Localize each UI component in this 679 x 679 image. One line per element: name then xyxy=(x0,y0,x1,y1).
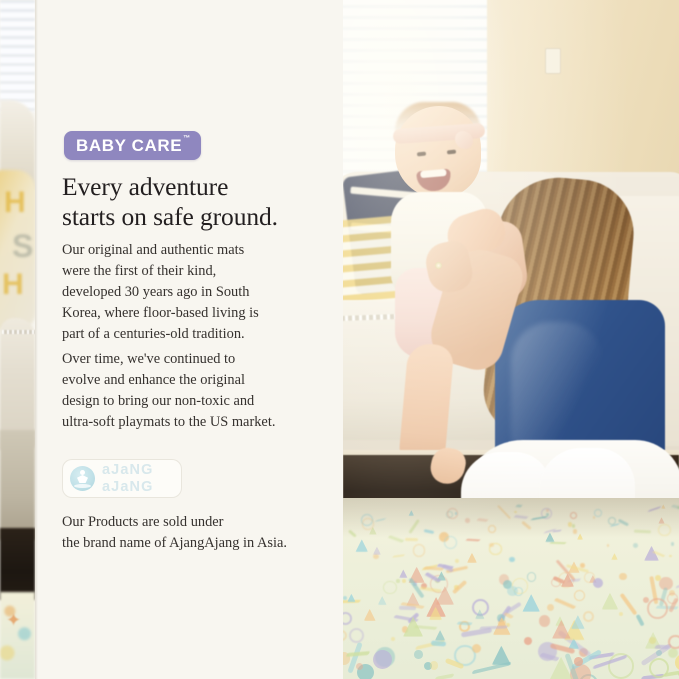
playmat-edge-blur xyxy=(0,592,35,679)
footer-line-1: Our Products are sold under xyxy=(62,512,324,533)
playmat-shape xyxy=(399,606,416,611)
playmat-shape xyxy=(408,510,414,516)
playmat-shape xyxy=(619,573,626,580)
playmat-shape xyxy=(514,515,529,519)
playmat-shape xyxy=(602,593,619,610)
playmat-shape xyxy=(375,518,385,522)
playmat-shape xyxy=(373,547,381,555)
playmat-shape xyxy=(573,529,577,533)
paragraph-evolution: Over time, we've continued to evolve and… xyxy=(62,349,324,433)
wood-floor-blur xyxy=(0,528,35,600)
figure-body-icon xyxy=(77,475,88,483)
para2-line-4: ultra-soft playmats to the US market. xyxy=(62,412,324,433)
playmat-shape xyxy=(435,630,446,641)
playmat-shape xyxy=(618,519,629,526)
para2-line-1: Over time, we've continued to xyxy=(62,349,324,370)
headline: Every adventure starts on safe ground. xyxy=(62,172,330,232)
playmat-shape xyxy=(658,524,671,537)
headline-line-2: starts on safe ground. xyxy=(62,202,330,232)
playmat-shape xyxy=(661,504,666,509)
pillow-letter-3: H xyxy=(2,268,24,302)
playmat-shape xyxy=(505,602,521,615)
playmat-shape xyxy=(364,609,376,621)
baby-headband-bow xyxy=(455,131,473,149)
trademark-symbol: ™ xyxy=(183,135,190,142)
playmat-shape xyxy=(378,596,387,605)
playmat-shape xyxy=(391,637,395,641)
playmat-shape xyxy=(402,579,406,583)
baby-figure-icon xyxy=(70,466,95,491)
para1-line-3: developed 30 years ago in South xyxy=(62,282,324,303)
ajang-ajang-logo-badge: aJaNG aJaNG xyxy=(63,460,181,497)
playmat-shape xyxy=(570,512,577,519)
playmat-shape xyxy=(497,505,511,520)
left-photo-strip: H S H ✦ xyxy=(0,0,35,679)
playmat-shape xyxy=(611,553,618,560)
playmat-shape xyxy=(424,529,434,534)
para1-line-1: Our original and authentic mats xyxy=(62,240,324,261)
playmat-shape xyxy=(408,519,419,534)
playmat-shape xyxy=(667,593,678,604)
cushion-stitch-line xyxy=(2,330,35,334)
playmat-shape xyxy=(455,559,459,563)
playmat-shape xyxy=(633,543,638,548)
baby-care-logo-text: BABY CARE xyxy=(76,137,182,154)
playmat-shape xyxy=(524,637,532,645)
playmat-shape xyxy=(572,524,575,527)
playmat-shape xyxy=(349,628,364,643)
playmat-shape xyxy=(414,650,423,659)
playmat-shape xyxy=(514,511,517,514)
playmat-shape xyxy=(668,635,679,650)
pillow-letter-2: S xyxy=(12,228,33,265)
para1-line-4: Korea, where floor-based living is xyxy=(62,303,324,324)
playmat-shape xyxy=(388,535,404,542)
playmat-star-icon: ✦ xyxy=(6,610,21,631)
headline-line-1: Every adventure xyxy=(62,172,330,202)
playmat-shape xyxy=(405,538,418,541)
playmat-shape xyxy=(547,604,554,611)
playmat-shape xyxy=(472,644,481,653)
playmat-shape xyxy=(413,544,425,556)
playmat-shape xyxy=(466,538,480,541)
playmat-shape xyxy=(522,594,540,612)
playmat-shape xyxy=(471,661,510,674)
playmat-shape xyxy=(583,611,594,622)
playmat-shape xyxy=(669,555,672,558)
figure-base-icon xyxy=(74,484,91,488)
playmat-shape xyxy=(539,615,551,627)
playmat-shape xyxy=(647,598,668,619)
playmat-shape xyxy=(399,569,408,578)
playmat-shape xyxy=(671,542,674,545)
playmat-shape xyxy=(392,554,404,558)
wedding-ring xyxy=(435,262,442,269)
playmat-shape xyxy=(577,533,583,539)
playmat-shape xyxy=(356,663,363,670)
ajang-wordmark-line-2: aJaNG xyxy=(102,480,153,495)
pillow-letter-1: H xyxy=(4,186,26,220)
playmat-shape xyxy=(362,518,373,529)
playmat-shape xyxy=(347,594,356,603)
playmat-shape xyxy=(488,525,496,533)
playmat-shape xyxy=(634,530,651,534)
playmat-shape xyxy=(396,579,399,582)
para2-line-3: design to bring our non-toxic and xyxy=(62,391,324,412)
mother-and-baby-photo xyxy=(343,0,679,679)
playmat-shape xyxy=(593,516,596,519)
playmat-shape xyxy=(554,597,576,609)
product-brand-panel: H S H ✦ BABY CARE ™ Every adventure star… xyxy=(0,0,679,679)
figure-head-icon xyxy=(80,470,85,475)
playmat-shape xyxy=(431,641,447,647)
playmat-shape xyxy=(574,590,585,601)
playmat-shape xyxy=(465,518,470,523)
playmat-shape xyxy=(671,505,679,510)
playmat-shape xyxy=(527,572,537,582)
couch-skirt-blur xyxy=(0,430,35,540)
playmat-shape xyxy=(373,650,393,670)
paragraph-origin-story: Our original and authentic mats were the… xyxy=(62,240,324,345)
footer-note: Our Products are sold under the brand na… xyxy=(62,512,324,554)
playmat-shape xyxy=(467,553,477,563)
baby-care-logo-badge: BABY CARE ™ xyxy=(64,131,201,160)
playmat-shape xyxy=(675,654,679,671)
playmat-shape xyxy=(648,506,661,512)
playmat-shape xyxy=(509,557,514,562)
playmat-shape xyxy=(635,614,644,626)
wall-outlet xyxy=(545,48,561,74)
playmat-shape xyxy=(355,539,368,552)
playmat-shape xyxy=(430,661,438,669)
playmat-shape xyxy=(545,532,555,542)
playmat-shape xyxy=(349,530,357,538)
footer-line-2: the brand name of AjangAjang in Asia. xyxy=(62,533,324,554)
playmat-shape xyxy=(435,673,455,679)
playmat-shape xyxy=(658,517,664,523)
playmat-shape xyxy=(607,544,609,546)
window-blinds-blur xyxy=(0,0,35,112)
para2-line-2: evolve and enhance the original xyxy=(62,370,324,391)
playmat-shape xyxy=(383,581,397,595)
playmat-shape xyxy=(477,518,488,521)
playmat-shape xyxy=(655,575,661,581)
playmat-shape xyxy=(343,612,352,624)
playmat-shape xyxy=(343,630,347,641)
playmat-shape xyxy=(552,530,561,533)
para1-line-2: were the first of their kind, xyxy=(62,261,324,282)
playmat-shape xyxy=(643,597,649,603)
ajang-ajang-wordmark: aJaNG aJaNG xyxy=(102,463,153,494)
playmat-shape xyxy=(516,504,523,507)
playmat-shape xyxy=(444,536,457,549)
para1-line-5: part of a centuries-old tradition. xyxy=(62,324,324,345)
playmat-shape xyxy=(656,650,662,656)
playmat-shape xyxy=(574,657,583,666)
playmat-shape xyxy=(549,542,566,545)
playmat-shape xyxy=(552,620,571,639)
playmat xyxy=(343,498,679,679)
playmat-shape xyxy=(619,612,623,616)
playmat-shape xyxy=(521,521,531,530)
playmat-shape xyxy=(593,578,603,588)
ajang-wordmark-line-1: aJaNG xyxy=(102,463,153,478)
